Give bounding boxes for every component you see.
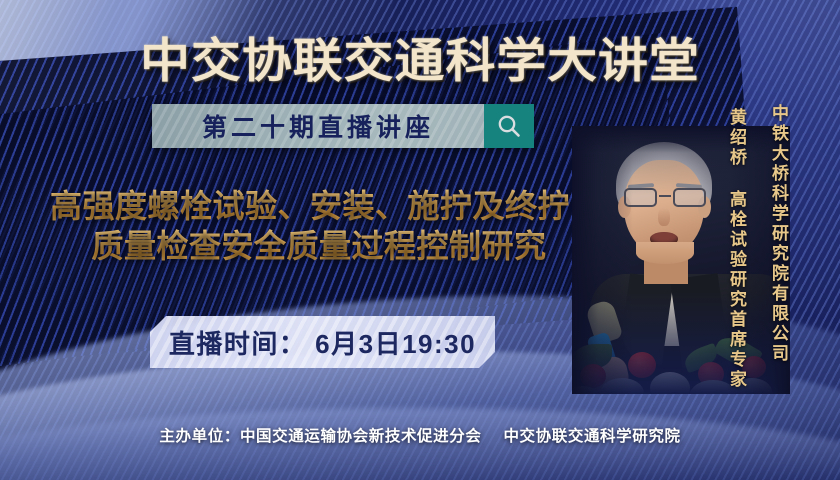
subtitle-text: 第二十期直播讲座	[202, 108, 434, 144]
main-title-text: 中交协联交通科学大讲堂	[140, 22, 700, 91]
live-lecture-poster: 中交协联交通科学大讲堂 第二十期直播讲座 高强度螺栓试验、安装、施拧及终拧 质量…	[0, 0, 840, 480]
topic-line-1: 高强度螺栓试验、安装、施拧及终拧	[0, 186, 620, 226]
subtitle-label-panel: 第二十期直播讲座	[152, 104, 484, 148]
subtitle-bar: 第二十期直播讲座	[152, 104, 534, 148]
footer-prefix: 主办单位：	[159, 428, 240, 445]
speaker-organization: 中铁大桥科学研究院有限公司	[766, 104, 791, 364]
broadcast-time-box: 直播时间： 6月3日19:30	[150, 316, 495, 368]
topic-line-2: 质量检查安全质量过程控制研究	[0, 226, 620, 266]
speaker-name-title: 黄绍桥 高栓试验研究首席专家	[724, 108, 749, 390]
page-title: 中交协联交通科学大讲堂	[0, 22, 840, 91]
footer-org-1: 中国交通运输协会新技术促进分会	[240, 428, 482, 445]
footer-org-2: 中交协联交通科学研究院	[503, 428, 680, 445]
footer-organizers: 主办单位：中国交通运输协会新技术促进分会中交协联交通科学研究院	[0, 424, 840, 446]
lecture-topic: 高强度螺栓试验、安装、施拧及终拧 质量检查安全质量过程控制研究	[0, 186, 620, 266]
search-icon[interactable]	[484, 104, 534, 148]
broadcast-time-text: 直播时间： 6月3日19:30	[169, 324, 476, 361]
